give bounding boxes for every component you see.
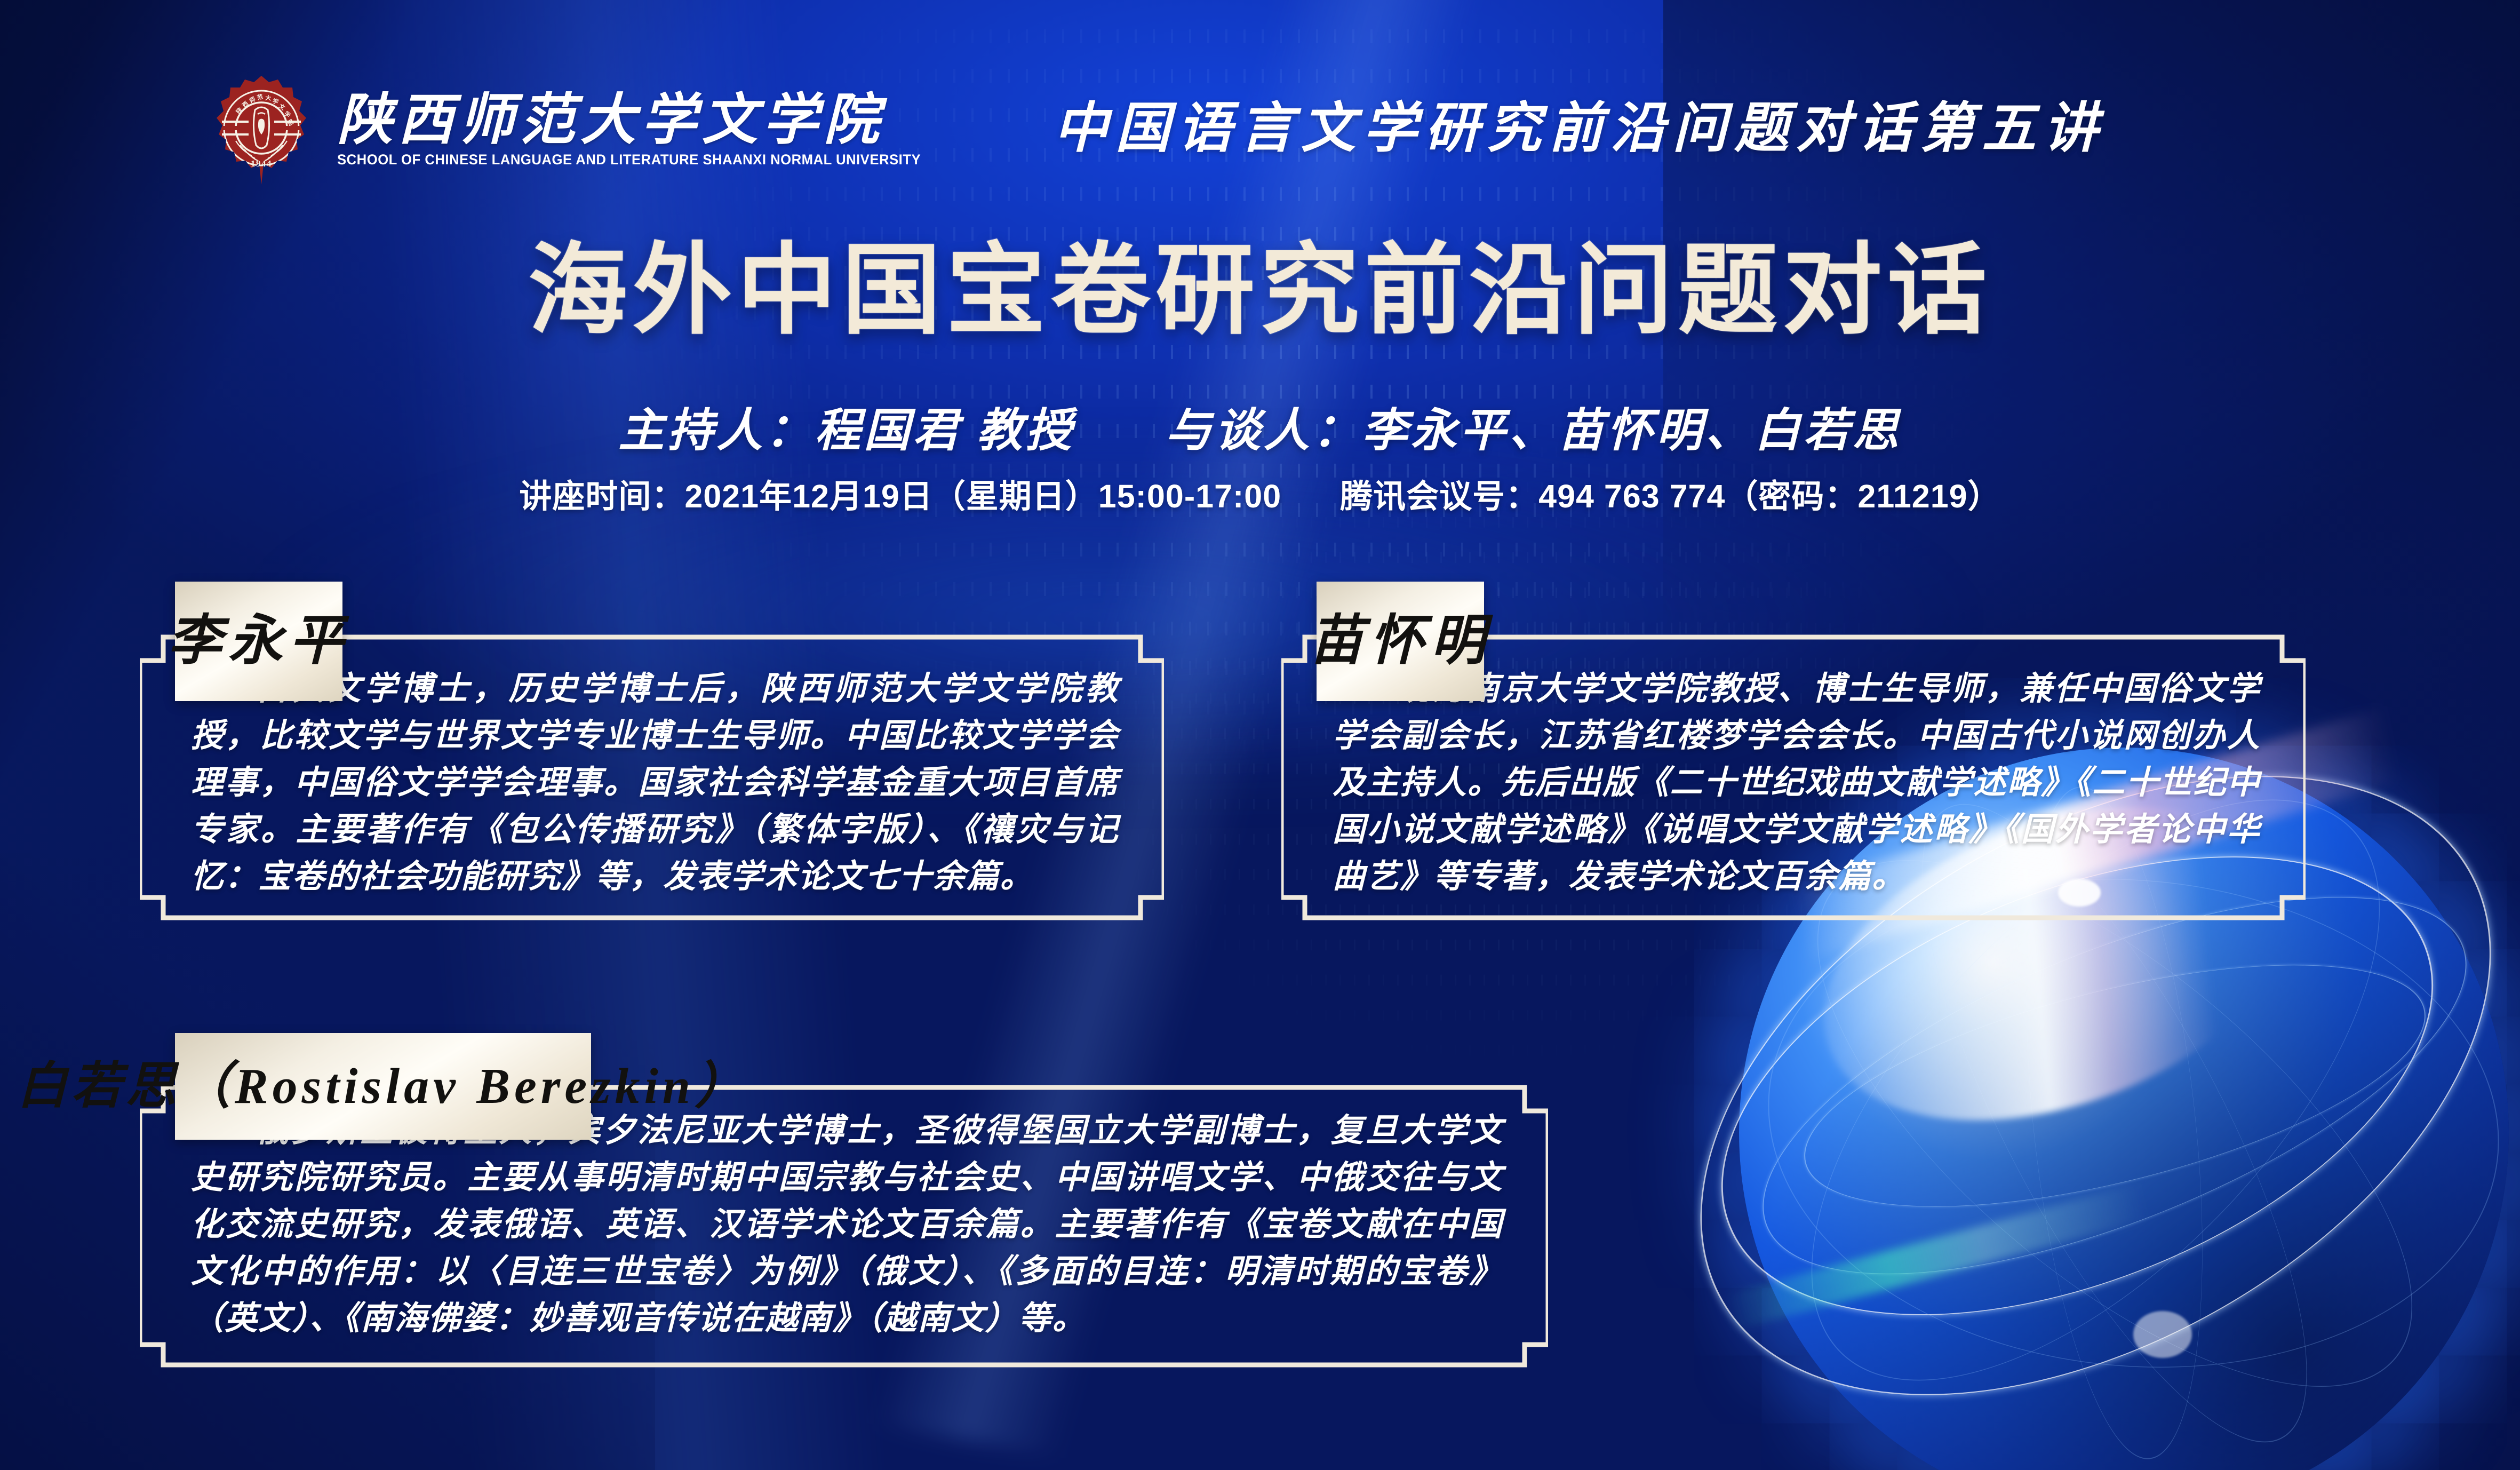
speaker-card-miao: 苗怀明 现为南京大学文学院教授、博士生导师，兼任中国俗文学学会副会长，江苏省红楼… (1281, 615, 2306, 931)
speaker-bio: 俄罗斯圣彼得堡人，宾夕法尼亚大学博士，圣彼得堡国立大学副博士，复旦大学文史研究院… (191, 1108, 1503, 1342)
speaker-name-cn: 白若思 (17, 1059, 180, 1114)
poster-header: 1944 陕 西 师 范 大 学 文 学 院 陕西师范大学文学院 (0, 75, 2520, 213)
meeting-id-group: 腾讯会议号：494 763 774（密码：211219） (1340, 470, 2000, 517)
svg-text:1944: 1944 (251, 158, 272, 169)
panel-label: 与谈人： (1166, 405, 1362, 456)
meeting-id-value: 494 763 774（密码：211219） (1538, 478, 2000, 514)
institution-name-en: SCHOOL OF CHINESE LANGUAGE AND LITERATUR… (337, 152, 921, 168)
page-title: 海外中国宝卷研究前沿问题对话 (0, 241, 2520, 340)
speaker-name: 白若思（Rostislav Berezkin） (17, 1061, 749, 1111)
speaker-name-latin: （Rostislav Berezkin） (180, 1059, 749, 1114)
lecture-time-group: 讲座时间：2021年12月19日（星期日）15:00-17:00 (519, 470, 1281, 517)
host-name: 程国君 教授 (815, 405, 1075, 456)
lecture-time-label: 讲座时间： (519, 478, 684, 514)
institution-name-cn: 陕西师范大学文学院 (337, 93, 939, 148)
university-logo-lockup: 1944 陕 西 师 范 大 学 文 学 院 陕西师范大学文学院 (208, 75, 939, 186)
host-label: 主持人： (618, 405, 815, 456)
meeting-id-label: 腾讯会议号： (1340, 478, 1538, 514)
poster-root: 1944 陕 西 师 范 大 学 文 学 院 陕西师范大学文学院 (0, 0, 2520, 1470)
speaker-card-bai: 白若思（Rostislav Berezkin） 俄罗斯圣彼得堡人，宾夕法尼亚大学… (140, 1066, 1548, 1378)
lecture-time-value: 2021年12月19日（星期日）15:00-17:00 (684, 478, 1281, 514)
speaker-name-tag: 李永平 (175, 582, 342, 701)
svg-text:大: 大 (265, 94, 272, 102)
panel-names: 李永平、苗怀明、白若思 (1362, 405, 1902, 456)
people-line: 主持人：程国君 教授 与谈人：李永平、苗怀明、白若思 (0, 393, 2520, 459)
speaker-name-tag: 白若思（Rostislav Berezkin） (175, 1033, 591, 1140)
speaker-name: 李永平 (168, 614, 350, 669)
host-group: 主持人：程国君 教授 (618, 393, 1075, 459)
speaker-card-li: 李永平 古典文学博士，历史学博士后，陕西师范大学文学院教授，比较文学与世界文学专… (140, 615, 1164, 931)
panel-group: 与谈人：李永平、苗怀明、白若思 (1166, 393, 1902, 459)
info-line: 讲座时间：2021年12月19日（星期日）15:00-17:00 腾讯会议号：4… (0, 470, 2520, 517)
speaker-name-tag: 苗怀明 (1317, 582, 1484, 701)
series-title: 中国语言文学研究前沿问题对话第五讲 (1054, 84, 2106, 163)
speaker-name: 苗怀明 (1309, 614, 1492, 669)
speaker-bio: 古典文学博士，历史学博士后，陕西师范大学文学院教授，比较文学与世界文学专业博士生… (191, 666, 1119, 901)
speaker-bio: 现为南京大学文学院教授、博士生导师，兼任中国俗文学学会副会长，江苏省红楼梦学会会… (1333, 666, 2261, 901)
university-crest-icon: 1944 陕 西 师 范 大 学 文 学 院 (208, 75, 315, 186)
